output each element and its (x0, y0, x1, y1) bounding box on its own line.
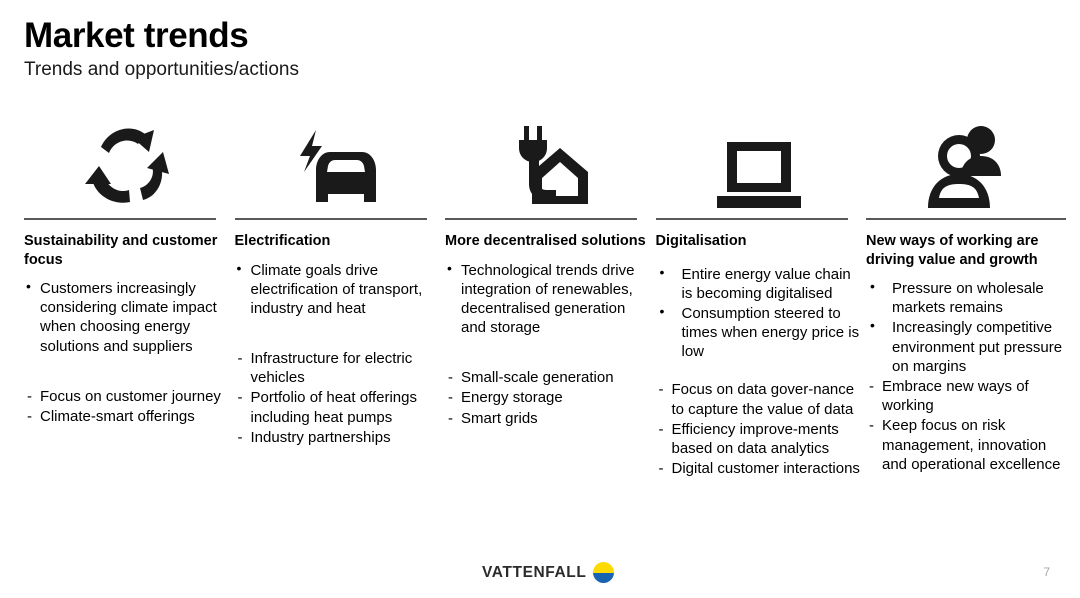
logo-wordmark: VATTENFALL (482, 564, 586, 582)
trend-item: Increasingly competitive environment put… (866, 318, 1066, 376)
electric-car-icon (235, 112, 442, 216)
trend-columns: Sustainability and customer focus Custom… (24, 112, 1066, 479)
action-list: Focus on customer journey Climate-smart … (24, 387, 231, 427)
column-divider (656, 218, 848, 220)
trend-item: Entire energy value chain is becoming di… (656, 265, 863, 303)
column-heading: Digitalisation (656, 232, 863, 251)
action-item: Industry partnerships (235, 428, 442, 447)
action-item: Embrace new ways of working (866, 377, 1066, 415)
action-item: Energy storage (445, 388, 652, 407)
action-list: Embrace new ways of working Keep focus o… (866, 377, 1066, 475)
column-electrification: Electrification Climate goals drive elec… (235, 112, 442, 448)
column-heading: Sustainability and customer focus (24, 232, 231, 269)
trend-list: Entire energy value chain is becoming di… (656, 265, 863, 363)
list-spacer (235, 319, 442, 349)
laptop-icon (656, 112, 863, 216)
column-heading: More decentralised solutions (445, 232, 652, 251)
column-heading: New ways of working are driving value an… (866, 232, 1066, 269)
action-item: Infrastructure for electric vehicles (235, 349, 442, 387)
trend-item: Customers increasingly considering clima… (24, 279, 231, 356)
page-title: Market trends (24, 18, 1064, 55)
trend-list: Pressure on wholesale markets remains In… (866, 279, 1066, 377)
vattenfall-mark-icon (593, 562, 614, 583)
logo-half-blue (593, 573, 614, 584)
people-icon (866, 112, 1066, 216)
action-item: Small-scale generation (445, 368, 652, 387)
action-item: Smart grids (445, 409, 652, 428)
action-list: Infrastructure for electric vehicles Por… (235, 349, 442, 448)
column-heading: Electrification (235, 232, 442, 251)
action-item: Focus on customer journey (24, 387, 231, 406)
list-spacer (24, 357, 231, 387)
column-divider (235, 218, 427, 220)
column-divider (866, 218, 1066, 220)
action-item: Portfolio of heat offerings including he… (235, 388, 442, 426)
trend-item: Consumption steered to times when energy… (656, 304, 863, 362)
column-decentralised: More decentralised solutions Technologic… (445, 112, 652, 429)
action-item: Focus on data gover-nance to capture the… (656, 380, 863, 418)
column-divider (24, 218, 216, 220)
action-list: Small-scale generation Energy storage Sm… (445, 368, 652, 429)
trend-list: Customers increasingly considering clima… (24, 279, 231, 357)
trend-item: Climate goals drive electrification of t… (235, 261, 442, 319)
page-subtitle: Trends and opportunities/actions (24, 59, 1064, 81)
column-sustainability: Sustainability and customer focus Custom… (24, 112, 231, 427)
column-new-ways-of-working: New ways of working are driving value an… (866, 112, 1066, 475)
action-item: Digital customer interactions (656, 459, 863, 478)
recycling-icon (24, 112, 231, 216)
list-spacer (656, 362, 863, 380)
trend-list: Technological trends drive integration o… (445, 261, 652, 339)
house-plug-icon (445, 112, 652, 216)
trend-item: Pressure on wholesale markets remains (866, 279, 1066, 317)
action-item: Climate-smart offerings (24, 407, 231, 426)
list-spacer (445, 338, 652, 368)
action-item: Keep focus on risk management, innovatio… (866, 416, 1066, 474)
vattenfall-logo: VATTENFALL (482, 562, 614, 583)
logo-half-yellow (593, 562, 614, 573)
page-number: 7 (1043, 565, 1050, 579)
action-item: Efficiency improve-ments based on data a… (656, 420, 863, 458)
trend-list: Climate goals drive electrification of t… (235, 261, 442, 320)
column-digitalisation: Digitalisation Entire energy value chain… (656, 112, 863, 479)
column-divider (445, 218, 637, 220)
action-list: Focus on data gover-nance to capture the… (656, 380, 863, 479)
slide-header: Market trends Trends and opportunities/a… (24, 18, 1064, 81)
trend-item: Technological trends drive integration o… (445, 261, 652, 338)
